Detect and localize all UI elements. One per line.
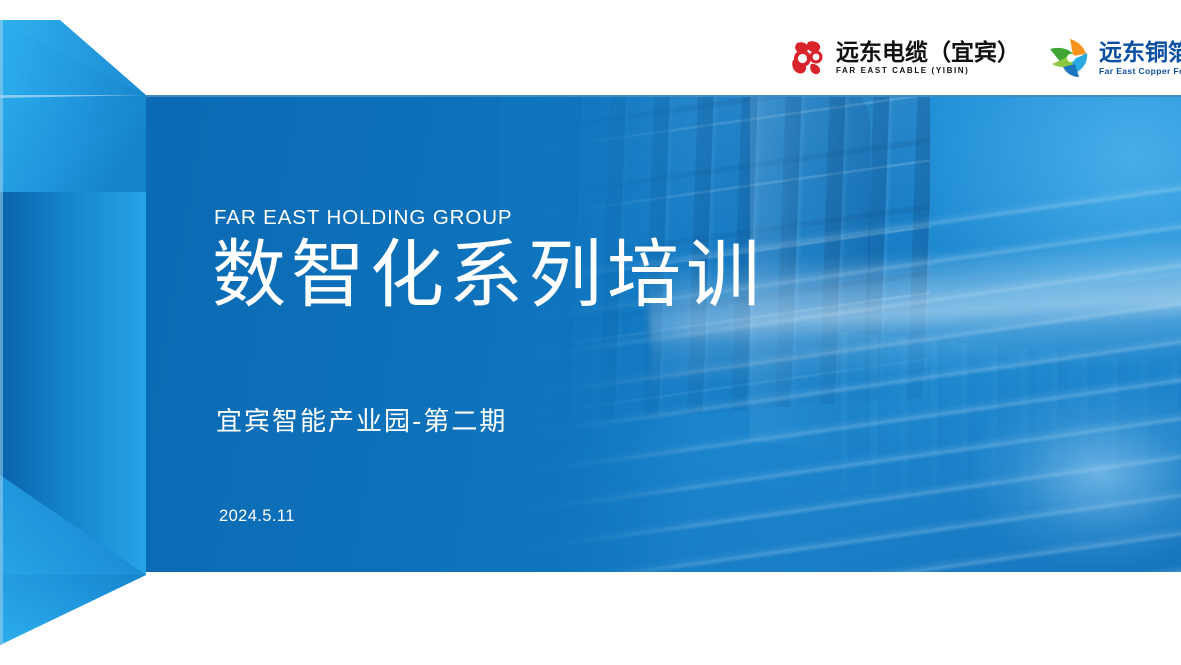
slide-canvas: 远东电缆（宜宾） FAR EAST CABLE (YIBIN) 远东铜箔 Far… [0, 0, 1181, 665]
far-east-copper-foil-mark-icon [1046, 37, 1092, 79]
far-east-cable-wordmark: 远东电缆（宜宾） FAR EAST CABLE (YIBIN) [836, 41, 1020, 75]
logo-bar: 远东电缆（宜宾） FAR EAST CABLE (YIBIN) 远东铜箔 Far… [785, 30, 1165, 86]
hero-panel [145, 95, 1181, 572]
logo-far-east-copper-foil: 远东铜箔 Far East Copper Foil [1046, 37, 1181, 79]
title-block: FAR EAST HOLDING GROUP 数智化系列培训 [212, 206, 832, 316]
left-ribbon-banner [0, 20, 180, 645]
far-east-copper-foil-name-cn: 远东铜箔 [1099, 41, 1181, 64]
logo-far-east-cable-yibin: 远东电缆（宜宾） FAR EAST CABLE (YIBIN) [785, 38, 1020, 78]
far-east-cable-name-cn: 远东电缆（宜宾） [836, 41, 1020, 64]
far-east-copper-foil-wordmark: 远东铜箔 Far East Copper Foil [1099, 41, 1181, 76]
photo-left-fade [500, 97, 690, 572]
far-east-cable-mark-icon [785, 38, 829, 78]
slide-subtitle: 宜宾智能产业园-第二期 [216, 401, 507, 438]
group-name-en: FAR EAST HOLDING GROUP [214, 206, 832, 230]
far-east-copper-foil-name-en: Far East Copper Foil [1099, 67, 1181, 76]
slide-title: 数智化系列培训 [212, 236, 832, 316]
city-street-photo [500, 97, 1181, 572]
far-east-cable-name-en: FAR EAST CABLE (YIBIN) [836, 67, 1020, 75]
slide-date: 2024.5.11 [219, 507, 295, 526]
